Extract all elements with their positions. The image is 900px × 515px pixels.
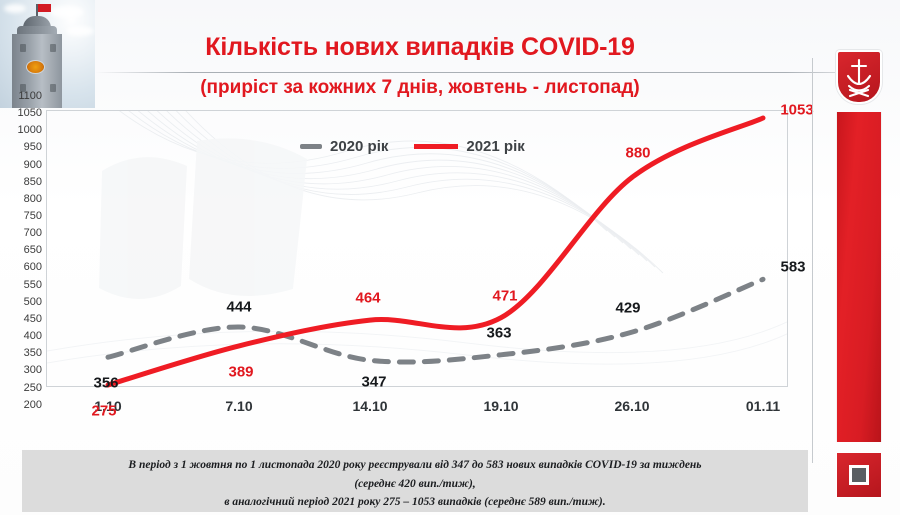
y-axis-tick: 250 xyxy=(24,383,42,394)
logo-inner-square-icon xyxy=(849,465,869,485)
data-label: 347 xyxy=(361,374,386,391)
data-label: 880 xyxy=(625,145,650,162)
y-axis-tick: 600 xyxy=(24,262,42,273)
legend-swatch-2021-icon xyxy=(414,144,458,149)
data-label: 464 xyxy=(355,290,380,307)
y-axis-tick: 1100 xyxy=(18,91,42,102)
y-axis-tick: 900 xyxy=(24,160,42,171)
vinnytsia-water-tower-photo xyxy=(0,0,95,108)
data-label: 1053 xyxy=(780,102,813,119)
header-divider xyxy=(95,72,880,73)
data-label: 389 xyxy=(228,363,253,380)
y-axis-tick: 800 xyxy=(24,194,42,205)
y-axis-tick: 1050 xyxy=(18,108,42,119)
y-axis-tick: 650 xyxy=(24,245,42,256)
y-axis-tick: 450 xyxy=(24,314,42,325)
chart-legend: 2020 рік 2021 рік xyxy=(300,134,525,158)
footer-line-1: В період з 1 жовтня по 1 листопада 2020 … xyxy=(22,456,808,475)
legend-swatch-2020-icon xyxy=(300,144,322,149)
y-axis-tick: 850 xyxy=(24,177,42,188)
data-label: 471 xyxy=(492,287,517,304)
x-axis-tick: 14.10 xyxy=(352,398,387,414)
legend-label-2021: 2021 рік xyxy=(466,138,524,155)
y-axis-tick: 300 xyxy=(24,365,42,376)
red-flag-icon xyxy=(38,4,51,12)
rail-divider xyxy=(812,58,813,463)
data-label: 275 xyxy=(91,403,116,420)
legend-item-2021[interactable]: 2021 рік xyxy=(414,138,524,155)
y-axis-tick: 750 xyxy=(24,211,42,222)
y-axis: 2002503003504004505005506006507007508008… xyxy=(2,104,44,390)
red-accent-bar xyxy=(836,112,882,442)
slide-canvas: Кількість нових випадків COVID-19 (прирі… xyxy=(0,0,900,515)
data-label: 583 xyxy=(780,259,805,276)
legend-item-2020[interactable]: 2020 рік xyxy=(300,138,388,155)
y-axis-tick: 700 xyxy=(24,228,42,239)
data-label: 429 xyxy=(615,300,640,317)
y-axis-tick: 1000 xyxy=(18,125,42,136)
footer-line-2: (середнє 420 вип./тиж), xyxy=(22,475,808,494)
footer-note: В період з 1 жовтня по 1 листопада 2020 … xyxy=(22,450,808,512)
x-axis-tick: 7.10 xyxy=(225,398,252,414)
data-label: 363 xyxy=(486,324,511,341)
x-axis-tick: 19.10 xyxy=(483,398,518,414)
vinnytsia-coat-of-arms xyxy=(836,50,882,104)
y-axis-tick: 550 xyxy=(24,280,42,291)
page-subtitle: (приріст за кожних 7 днів, жовтень - лис… xyxy=(100,77,740,99)
y-axis-tick: 950 xyxy=(24,142,42,153)
y-axis-tick: 350 xyxy=(24,348,42,359)
y-axis-tick: 500 xyxy=(24,297,42,308)
legend-label-2020: 2020 рік xyxy=(330,138,388,155)
y-axis-tick: 400 xyxy=(24,331,42,342)
data-label: 356 xyxy=(93,375,118,392)
footer-line-3: в аналогічний період 2021 року 275 – 105… xyxy=(22,493,808,512)
logo-box xyxy=(836,452,882,498)
clock-face-icon xyxy=(26,60,45,74)
data-label: 444 xyxy=(226,299,251,316)
x-axis: 1.107.1014.1019.1026.1001.11 xyxy=(46,398,788,420)
page-title: Кількість нових випадків COVID-19 xyxy=(100,33,740,62)
x-axis-tick: 26.10 xyxy=(614,398,649,414)
y-axis-tick: 200 xyxy=(24,400,42,411)
x-axis-tick: 01.11 xyxy=(746,398,780,414)
